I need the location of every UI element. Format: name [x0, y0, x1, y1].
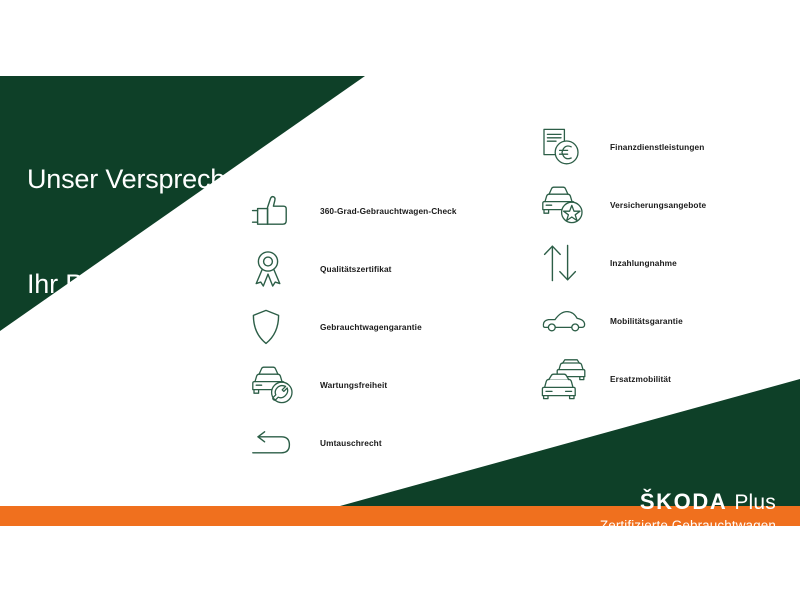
logo-tagline: Zertifizierte Gebrauchtwagen — [600, 519, 776, 533]
benefit-label: Wartungsfreiheit — [306, 380, 387, 390]
car-wrench-icon — [252, 362, 306, 408]
headline-line-1: Unser Versprechen. — [27, 162, 262, 197]
up-down-arrows-icon — [542, 240, 596, 286]
benefit-label: Qualitätszertifikat — [306, 264, 392, 274]
benefit-label: 360-Grad-Gebrauchtwagen-Check — [306, 206, 457, 216]
page-title: Unser Versprechen. Ihr Plus. — [27, 92, 262, 372]
shield-icon — [252, 304, 306, 350]
benefit-item-mobility-guarantee: Mobilitätsgarantie — [542, 292, 706, 350]
benefit-item-trade-in: Inzahlungnahme — [542, 234, 706, 292]
return-arrow-icon — [252, 420, 306, 466]
document-euro-icon — [542, 124, 596, 170]
benefit-item-financial-services: Finanzdienstleistungen — [542, 118, 706, 176]
benefit-label: Finanzdienstleistungen — [596, 142, 704, 152]
logo-wordmark-row: ŠKODA Plus — [600, 491, 776, 513]
skoda-plus-logo: ŠKODA Plus Zertifizierte Gebrauchtwagen — [600, 491, 776, 533]
benefit-list-left: 360-Grad-Gebrauchtwagen-Check Qualitätsz… — [252, 182, 457, 472]
car-star-icon — [542, 182, 596, 228]
benefit-item-360-check: 360-Grad-Gebrauchtwagen-Check — [252, 182, 457, 240]
benefit-item-exchange-right: Umtauschrecht — [252, 414, 457, 472]
benefit-list-right: Finanzdienstleistungen Versicherungsange… — [542, 118, 706, 408]
benefit-label: Ersatzmobilität — [596, 374, 671, 384]
quality-rosette-icon — [252, 246, 306, 292]
benefit-label: Inzahlungnahme — [596, 258, 677, 268]
benefit-label: Umtauschrecht — [306, 438, 382, 448]
two-cars-icon — [542, 356, 596, 402]
headline-line-2: Ihr Plus. — [27, 267, 262, 302]
thumbs-up-icon — [252, 188, 306, 234]
skoda-plus-promo-banner: Unser Versprechen. Ihr Plus. 360-Grad-Ge… — [0, 0, 800, 600]
skoda-wordmark: ŠKODA — [640, 491, 727, 513]
benefit-item-replacement-mobility: Ersatzmobilität — [542, 350, 706, 408]
benefit-item-maintenance-free: Wartungsfreiheit — [252, 356, 457, 414]
benefit-item-insurance-offers: Versicherungsangebote — [542, 176, 706, 234]
benefit-label: Versicherungsangebote — [596, 200, 706, 210]
car-side-icon — [542, 298, 596, 344]
benefit-label: Mobilitätsgarantie — [596, 316, 683, 326]
benefit-label: Gebrauchtwagengarantie — [306, 322, 422, 332]
plus-wordmark: Plus — [734, 492, 776, 513]
benefit-item-warranty: Gebrauchtwagengarantie — [252, 298, 457, 356]
benefit-item-quality-certificate: Qualitätszertifikat — [252, 240, 457, 298]
